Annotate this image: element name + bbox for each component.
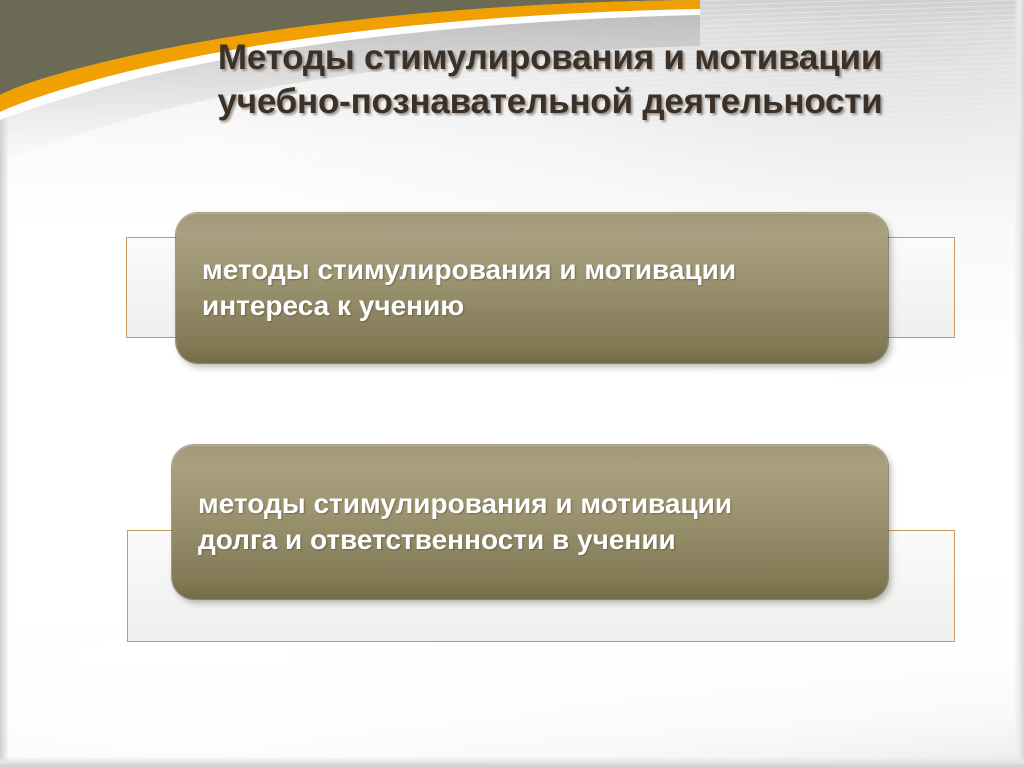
slide-edge-right [1014,0,1024,767]
diagram-box-2-label: методы стимулирования и мотивации долга … [172,486,758,559]
presentation-slide: Методы стимулирования и мотивации учебно… [0,0,1024,767]
diagram-box-1-label: методы стимулирования и мотивации интере… [176,252,762,325]
diagram-box-2[interactable]: методы стимулирования и мотивации долга … [172,445,888,599]
diagram-box-1[interactable]: методы стимулирования и мотивации интере… [176,213,888,363]
slide-edge-bottom [0,757,1024,767]
slide-title: Методы стимулирования и мотивации учебно… [150,36,950,125]
